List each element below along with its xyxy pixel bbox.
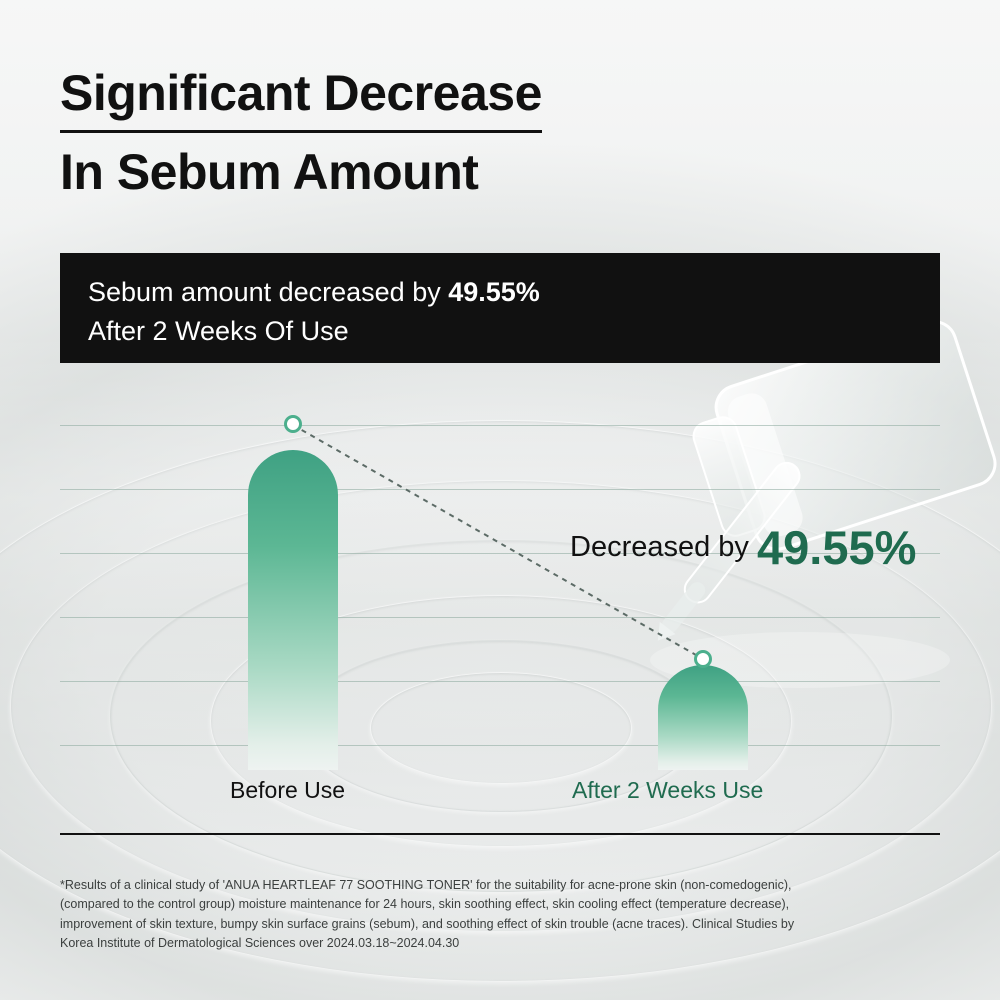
callout-line-1: Sebum amount decreased by 49.55% <box>88 273 940 312</box>
callout-line-1-value: 49.55% <box>448 277 540 307</box>
page-title: Significant Decrease In Sebum Amount <box>60 60 760 206</box>
x-axis-labels: Before Use After 2 Weeks Use <box>60 777 940 817</box>
footnote-line-2: (compared to the control group) moisture… <box>60 895 940 914</box>
decrease-annotation-value: 49.55% <box>757 521 916 574</box>
footer-divider <box>60 833 940 835</box>
sebum-bar-chart: Decreased by 49.55% Before Use After 2 W… <box>60 425 940 770</box>
x-label-before-use: Before Use <box>230 777 345 804</box>
footnote-line-4: Korea Institute of Dermatological Scienc… <box>60 934 940 953</box>
callout-banner: Sebum amount decreased by 49.55% After 2… <box>60 253 940 363</box>
datapoint-before-use <box>284 415 302 433</box>
headline-line-1: Significant Decrease <box>60 60 542 133</box>
trend-line <box>60 425 940 770</box>
callout-line-2: After 2 Weeks Of Use <box>88 312 940 351</box>
callout-line-1-prefix: Sebum amount decreased by <box>88 277 448 307</box>
decrease-annotation-lead: Decreased by <box>570 531 757 563</box>
infographic-page: Significant Decrease In Sebum Amount Seb… <box>0 0 1000 1000</box>
footnote-line-1: *Results of a clinical study of 'ANUA HE… <box>60 876 940 895</box>
headline-line-2: In Sebum Amount <box>60 139 760 207</box>
footnote: *Results of a clinical study of 'ANUA HE… <box>60 876 940 954</box>
decrease-annotation: Decreased by 49.55% <box>570 520 916 575</box>
x-label-after-2-weeks: After 2 Weeks Use <box>572 777 763 804</box>
footnote-line-3: improvement of skin texture, bumpy skin … <box>60 915 940 934</box>
datapoint-after-2-weeks <box>694 650 712 668</box>
